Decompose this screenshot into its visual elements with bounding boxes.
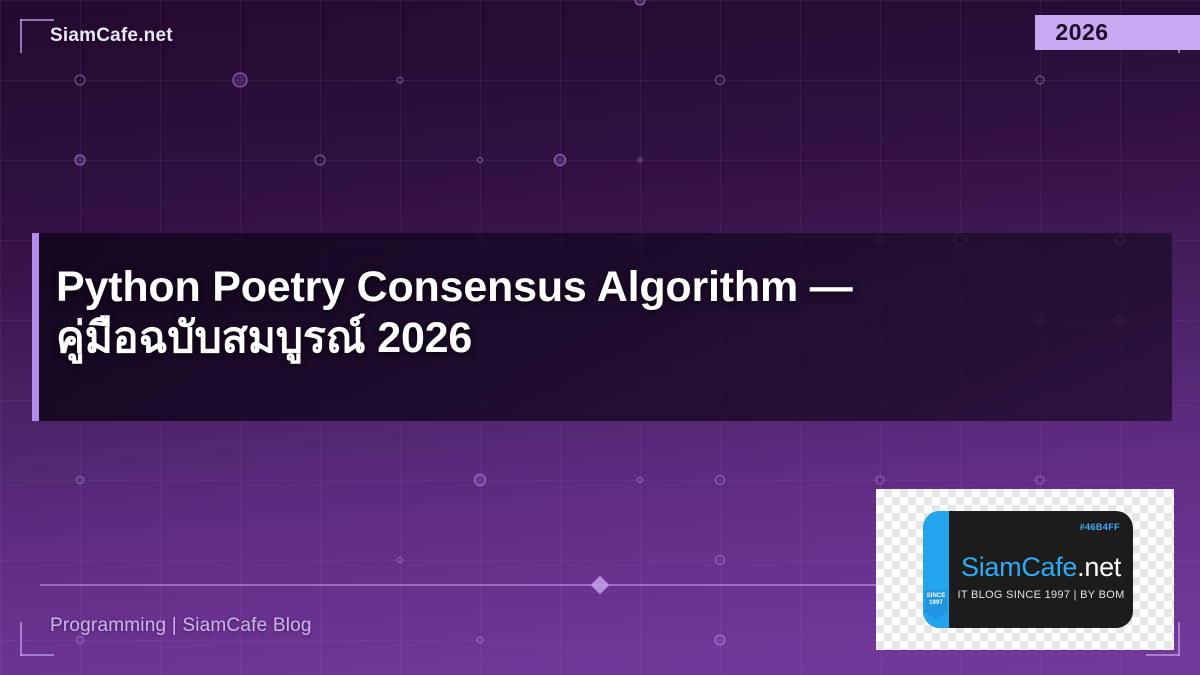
background-node bbox=[876, 476, 885, 485]
corner-bracket-bottom-left bbox=[20, 622, 54, 656]
divider-diamond-marker bbox=[591, 576, 609, 594]
background-node bbox=[397, 77, 404, 84]
background-node bbox=[75, 75, 86, 86]
bracket-arm-vertical bbox=[20, 622, 22, 656]
logo-tld-text: .net bbox=[1077, 552, 1121, 582]
shield-line-1: SINCE bbox=[927, 593, 946, 600]
breadcrumb: Programming | SiamCafe Blog bbox=[50, 615, 312, 637]
bracket-arm-vertical bbox=[1178, 622, 1180, 656]
site-name: SiamCafe.net bbox=[50, 25, 173, 47]
page-title: Python Poetry Consensus Algorithm — คู่ม… bbox=[56, 262, 1156, 364]
background-node bbox=[715, 475, 725, 485]
logo-wordmark: SiamCafe.net bbox=[949, 552, 1133, 583]
background-node bbox=[477, 157, 483, 163]
background-node bbox=[635, 0, 646, 6]
background-node bbox=[638, 158, 643, 163]
shield-line-2: 1997 bbox=[929, 600, 943, 607]
background-node bbox=[1036, 76, 1045, 85]
bracket-arm-horizontal bbox=[20, 19, 54, 21]
background-node bbox=[715, 555, 725, 565]
background-node bbox=[315, 155, 326, 166]
background-node bbox=[233, 73, 248, 88]
background-node bbox=[76, 636, 84, 644]
logo-badge: SINCE 1997 #46B4FF SiamCafe.net IT BLOG … bbox=[923, 511, 1133, 628]
bracket-arm-horizontal bbox=[20, 654, 54, 656]
year-badge-label: 2026 bbox=[1055, 19, 1108, 46]
year-badge: 2026 bbox=[1035, 15, 1200, 50]
background-node bbox=[1036, 476, 1045, 485]
since-1997-shield-icon: SINCE 1997 bbox=[925, 590, 947, 620]
brand-hex-label: #46B4FF bbox=[1080, 522, 1120, 532]
hero-banner: SiamCafe.net 2026 Python Poetry Consensu… bbox=[0, 0, 1200, 675]
bracket-arm-vertical bbox=[20, 19, 22, 53]
background-node bbox=[474, 474, 486, 486]
background-node bbox=[397, 557, 403, 563]
logo-tagline: IT BLOG SINCE 1997 | BY BOM bbox=[949, 589, 1133, 601]
logo-card: SINCE 1997 #46B4FF SiamCafe.net IT BLOG … bbox=[876, 489, 1174, 650]
logo-accent-stripe: SINCE 1997 bbox=[923, 511, 949, 628]
background-node bbox=[554, 154, 566, 166]
background-node bbox=[477, 637, 484, 644]
background-node bbox=[715, 635, 726, 646]
bracket-arm-horizontal bbox=[1146, 654, 1180, 656]
background-node bbox=[76, 476, 84, 484]
corner-bracket-top-left bbox=[20, 19, 54, 53]
logo-brand-text: SiamCafe bbox=[961, 552, 1077, 582]
background-node bbox=[715, 75, 725, 85]
background-node bbox=[75, 155, 86, 166]
title-accent-bar bbox=[32, 233, 39, 421]
background-node bbox=[637, 477, 643, 483]
